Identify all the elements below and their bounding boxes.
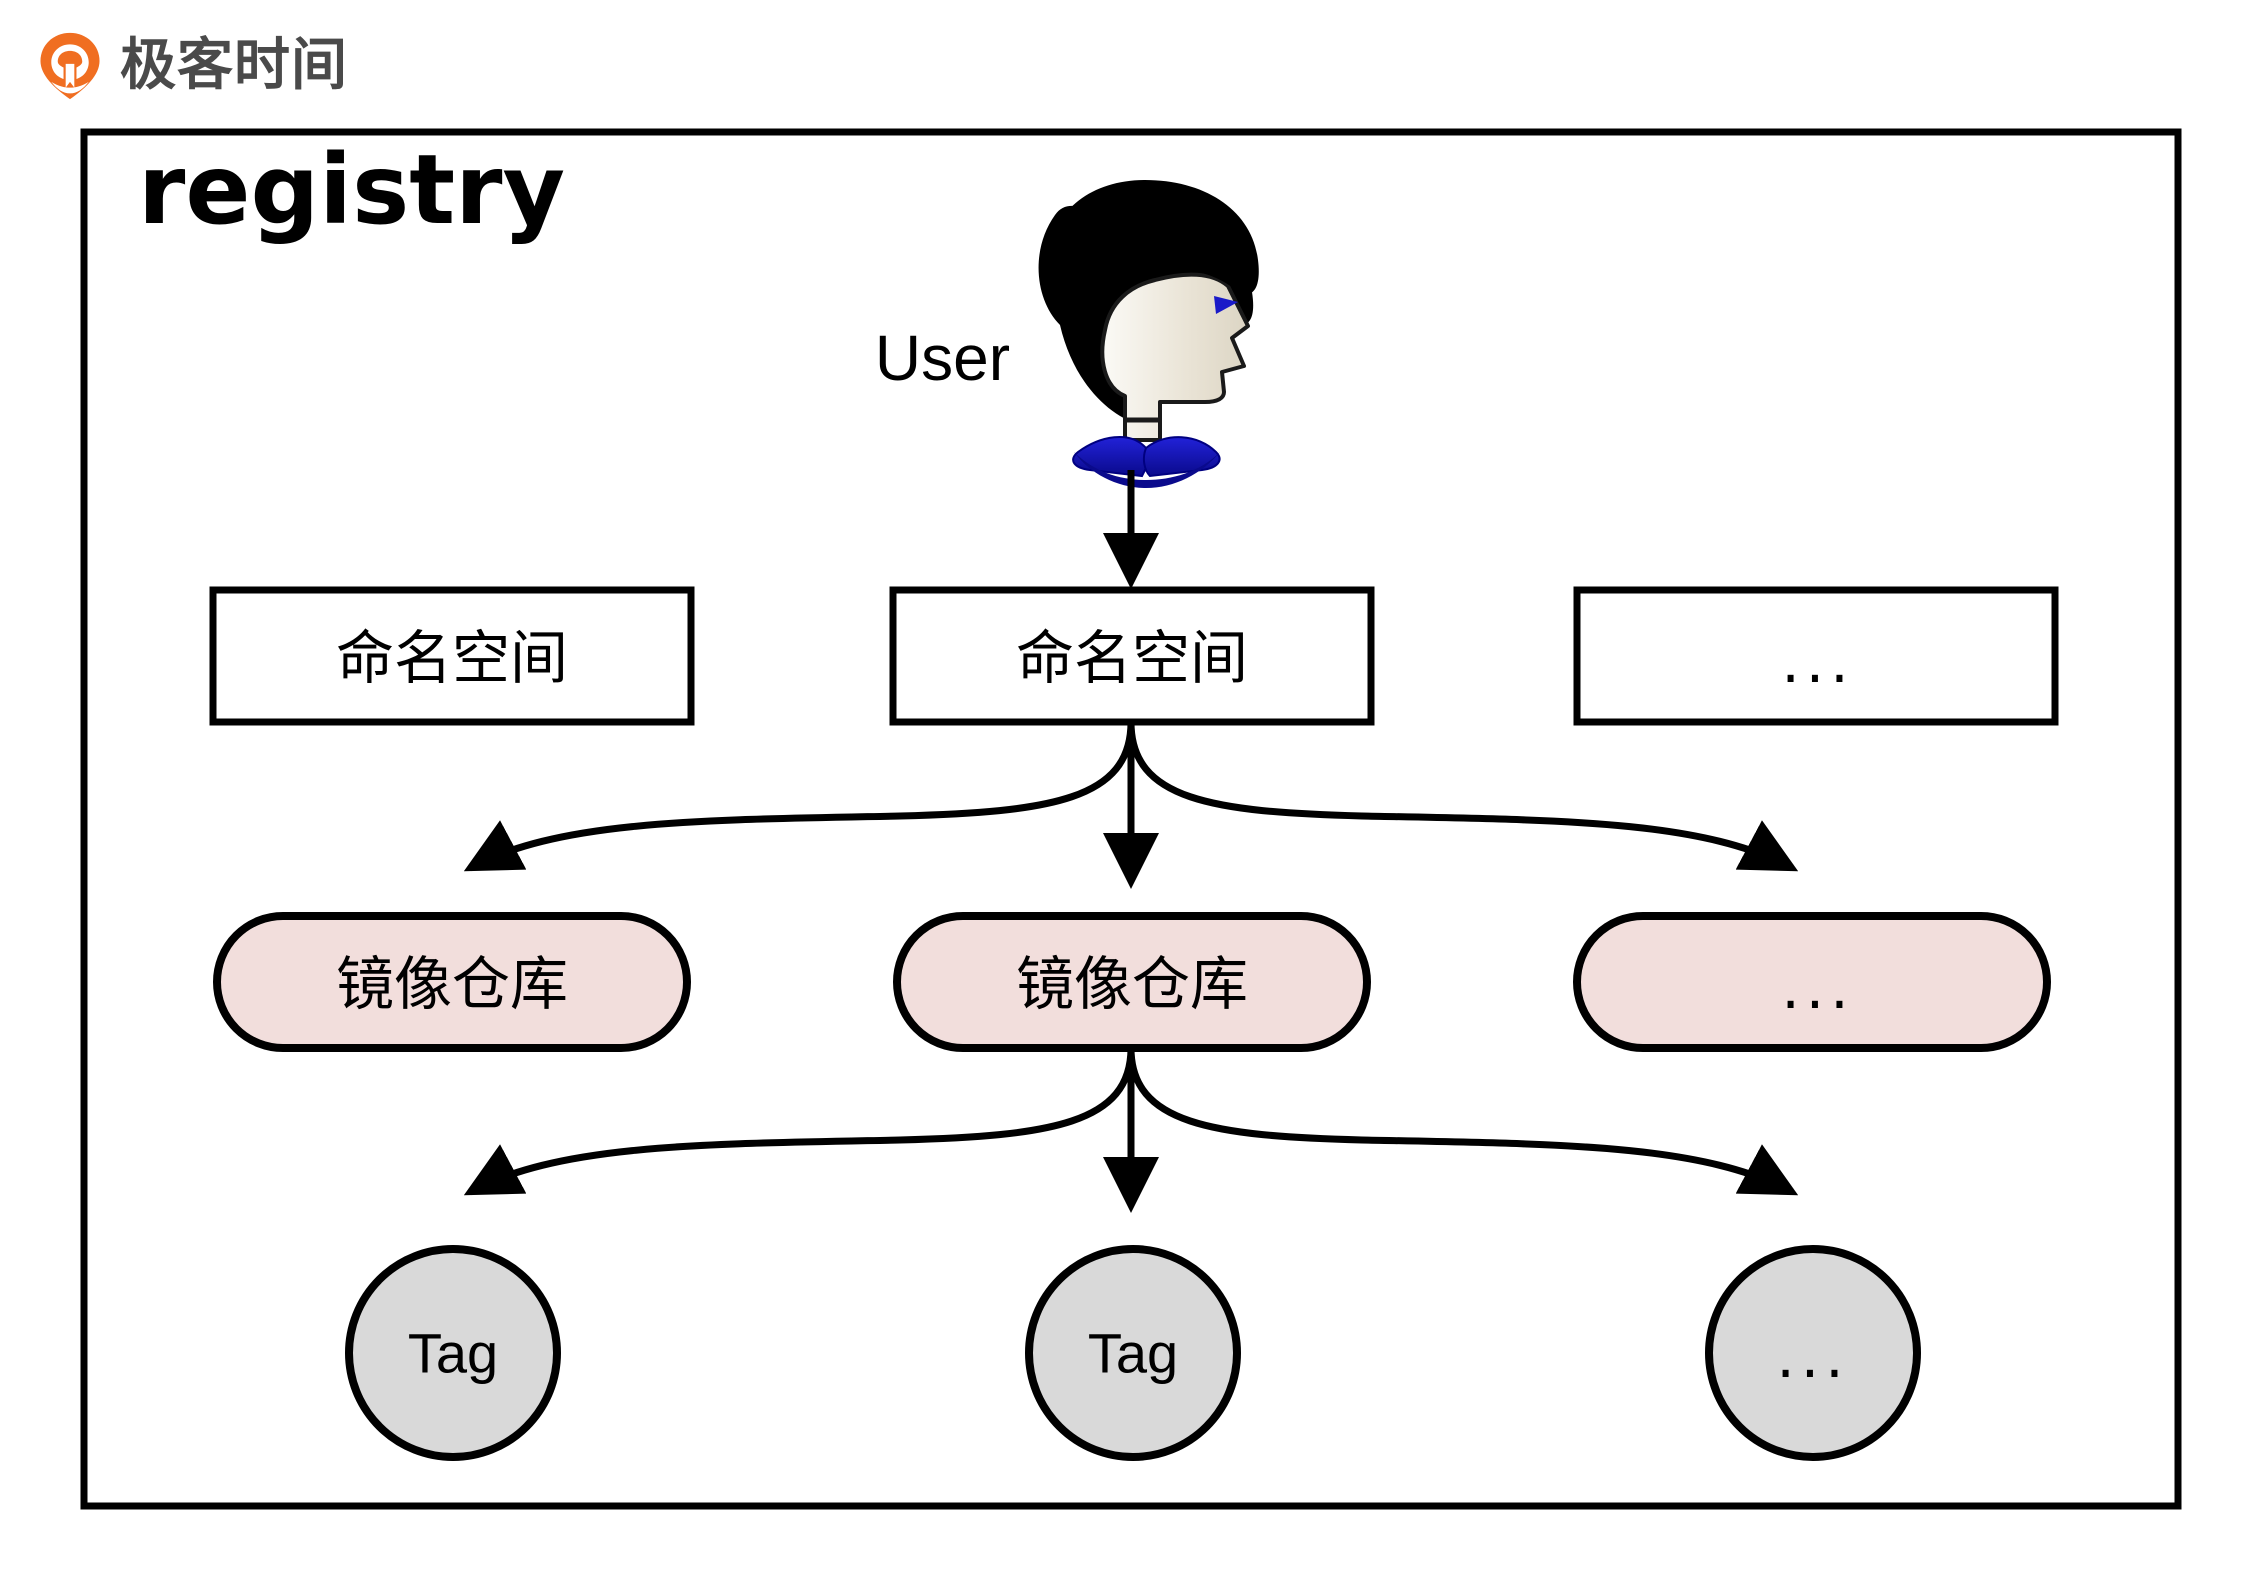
registry-hierarchy-diagram: registry User 命名空间 命名 [0, 0, 2248, 1581]
namespace-label: 命名空间 [336, 624, 568, 692]
repository-label-ellipsis: ... [1781, 954, 1854, 1022]
repository-level: 镜像仓库 镜像仓库 ... [217, 916, 2047, 1048]
namespace-label: 命名空间 [1016, 624, 1248, 692]
repository-node[interactable]: 镜像仓库 [897, 916, 1367, 1048]
namespace-label-ellipsis: ... [1781, 628, 1854, 696]
namespace-node[interactable]: 命名空间 [893, 590, 1371, 722]
repository-node-more[interactable]: ... [1577, 916, 2047, 1048]
namespace-node[interactable]: 命名空间 [213, 590, 691, 722]
namespace-level: 命名空间 命名空间 ... [213, 590, 2055, 722]
namespace-node-more[interactable]: ... [1577, 590, 2055, 722]
repository-label: 镜像仓库 [336, 950, 568, 1018]
actor-caption: User [875, 322, 1010, 394]
repository-label: 镜像仓库 [1016, 950, 1248, 1018]
repository-node[interactable]: 镜像仓库 [217, 916, 687, 1048]
tag-node-more[interactable]: ... [1709, 1249, 1917, 1457]
tag-label-ellipsis: ... [1776, 1323, 1849, 1391]
tag-node[interactable]: Tag [1029, 1249, 1237, 1457]
tag-label: Tag [408, 1322, 498, 1385]
tag-label: Tag [1088, 1322, 1178, 1385]
diagram-canvas: registry User 命名空间 命名 [0, 0, 2248, 1581]
page-title: registry [138, 134, 565, 246]
tag-node[interactable]: Tag [349, 1249, 557, 1457]
